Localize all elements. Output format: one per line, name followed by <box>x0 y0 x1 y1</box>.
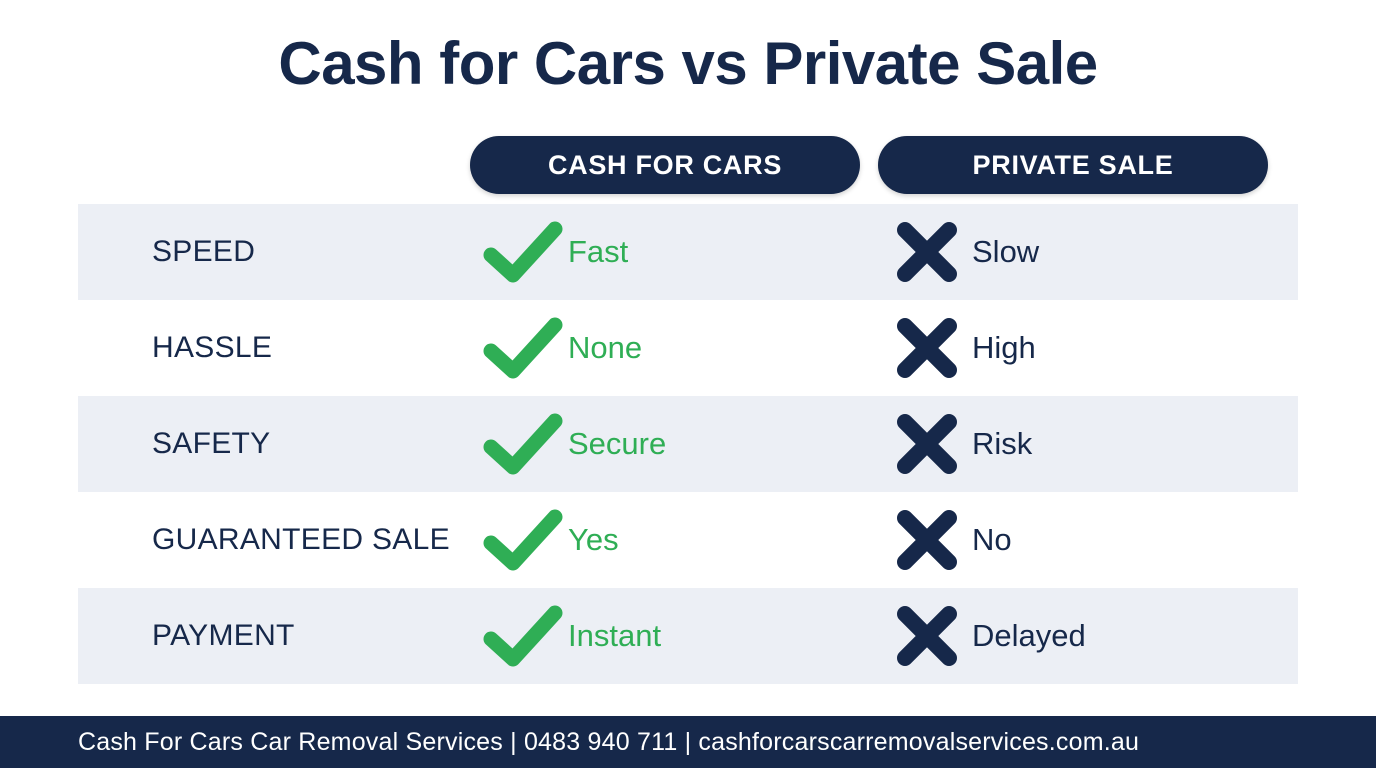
row-label: SPEED <box>78 235 474 269</box>
row-cell-cash-for-cars: Fast <box>474 221 882 283</box>
row-cell-private-sale: Delayed <box>882 605 1290 667</box>
check-icon <box>478 413 568 475</box>
row-value-cash-for-cars: Instant <box>568 618 661 654</box>
table-row: GUARANTEED SALE Yes No <box>78 492 1298 588</box>
row-value-private-sale: No <box>972 522 1012 558</box>
page-title: Cash for Cars vs Private Sale <box>0 28 1376 100</box>
table-row: SAFETY Secure Risk <box>78 396 1298 492</box>
row-cell-private-sale: Risk <box>882 413 1290 475</box>
comparison-table: SPEED Fast Slow HASSLE <box>78 204 1298 684</box>
cross-icon <box>882 317 972 379</box>
row-value-private-sale: Slow <box>972 234 1039 270</box>
row-cell-cash-for-cars: Yes <box>474 509 882 571</box>
cross-icon <box>882 509 972 571</box>
row-cell-private-sale: No <box>882 509 1290 571</box>
column-header-cash-for-cars-label: CASH FOR CARS <box>548 150 782 181</box>
check-icon <box>478 221 568 283</box>
row-value-cash-for-cars: Fast <box>568 234 628 270</box>
table-row: SPEED Fast Slow <box>78 204 1298 300</box>
row-cell-cash-for-cars: Instant <box>474 605 882 667</box>
row-cell-private-sale: High <box>882 317 1290 379</box>
footer-bar: Cash For Cars Car Removal Services | 048… <box>0 716 1376 768</box>
row-label: GUARANTEED SALE <box>78 523 474 557</box>
row-value-cash-for-cars: Secure <box>568 426 666 462</box>
column-header-cash-for-cars: CASH FOR CARS <box>470 136 860 194</box>
row-label: PAYMENT <box>78 619 474 653</box>
comparison-infographic: Cash for Cars vs Private Sale CASH FOR C… <box>0 0 1376 768</box>
row-value-cash-for-cars: Yes <box>568 522 619 558</box>
column-header-private-sale-label: PRIVATE SALE <box>973 150 1174 181</box>
column-header-private-sale: PRIVATE SALE <box>878 136 1268 194</box>
check-icon <box>478 317 568 379</box>
table-row: PAYMENT Instant Delayed <box>78 588 1298 684</box>
row-value-private-sale: High <box>972 330 1036 366</box>
row-cell-cash-for-cars: Secure <box>474 413 882 475</box>
cross-icon <box>882 221 972 283</box>
check-icon <box>478 509 568 571</box>
row-value-cash-for-cars: None <box>568 330 642 366</box>
row-cell-private-sale: Slow <box>882 221 1290 283</box>
row-label: SAFETY <box>78 427 474 461</box>
cross-icon <box>882 413 972 475</box>
table-row: HASSLE None High <box>78 300 1298 396</box>
row-cell-cash-for-cars: None <box>474 317 882 379</box>
cross-icon <box>882 605 972 667</box>
row-value-private-sale: Delayed <box>972 618 1086 654</box>
row-label: HASSLE <box>78 331 474 365</box>
row-value-private-sale: Risk <box>972 426 1032 462</box>
check-icon <box>478 605 568 667</box>
footer-contact-text: Cash For Cars Car Removal Services | 048… <box>0 728 1139 757</box>
